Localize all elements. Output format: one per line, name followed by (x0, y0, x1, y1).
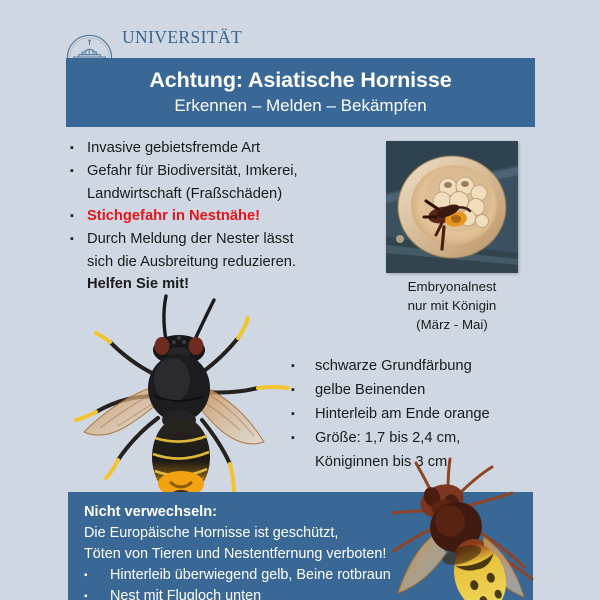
key-facts-list: Invasive gebietsfremde Art Gefahr für Bi… (70, 137, 370, 295)
list-item-danger: Stichgefahr in Nestnähe! (70, 205, 370, 227)
bullet-square-icon (70, 137, 87, 159)
bullet-square-icon (291, 379, 315, 402)
asian-hornet-photo (62, 292, 300, 500)
header-banner: Achtung: Asiatische Hornisse Erkennen – … (66, 58, 535, 127)
list-item-label: Größe: 1,7 bis 2,4 cm, (315, 427, 460, 450)
list-item-label: Stichgefahr in Nestnähe! (87, 205, 260, 227)
list-item: gelbe Beinenden (291, 379, 581, 402)
list-item: Durch Meldung der Nester lässt (70, 228, 370, 250)
nest-photo-caption: Embryonalnest nur mit Königin (März - Ma… (378, 277, 526, 334)
list-item-continuation: sich die Ausbreitung reduzieren. (70, 251, 370, 273)
page-title: Achtung: Asiatische Hornisse (149, 69, 451, 93)
list-item: Hinterleib am Ende orange (291, 403, 581, 426)
list-item-label: gelbe Beinenden (315, 379, 425, 402)
list-item: Größe: 1,7 bis 2,4 cm, (291, 427, 581, 450)
bullet-square-icon (84, 586, 110, 600)
list-item-label: schwarze Grundfärbung (315, 355, 472, 378)
european-hornet-photo (392, 455, 552, 600)
bullet-square-icon (70, 205, 87, 227)
list-item-label: Hinterleib am Ende orange (315, 403, 490, 426)
bullet-square-icon (291, 403, 315, 426)
list-item-label: Invasive gebietsfremde Art (87, 137, 260, 159)
poster-root: 1818 UNIVERSITÄT HOHENHEIM Achtung: Asia… (0, 0, 600, 600)
bullet-square-icon (84, 565, 110, 586)
list-item-label: Hinterleib überwiegend gelb, Beine rotbr… (110, 565, 391, 586)
list-item-label: Nest mit Flugloch unten (110, 586, 261, 600)
bullet-square-icon (70, 228, 87, 250)
university-wordmark-line1: UNIVERSITÄT (122, 27, 242, 47)
list-item: schwarze Grundfärbung (291, 355, 581, 378)
bullet-square-icon (291, 427, 315, 450)
list-item-label: Durch Meldung der Nester lässt (87, 228, 294, 250)
list-item-label: Gefahr für Biodiversität, Imkerei, (87, 160, 298, 182)
list-item: Gefahr für Biodiversität, Imkerei, (70, 160, 370, 182)
bullet-square-icon (291, 355, 315, 378)
list-item: Invasive gebietsfremde Art (70, 137, 370, 159)
nest-caption-line2: nur mit Königin (378, 296, 526, 315)
nest-caption-line1: Embryonalnest (378, 277, 526, 296)
bullet-square-icon (70, 160, 87, 182)
nest-caption-line3: (März - Mai) (378, 315, 526, 334)
page-subtitle: Erkennen – Melden – Bekämpfen (174, 97, 426, 116)
embryonal-nest-photo (386, 141, 518, 273)
list-item-continuation: Landwirtschaft (Fraßschäden) (70, 183, 370, 205)
